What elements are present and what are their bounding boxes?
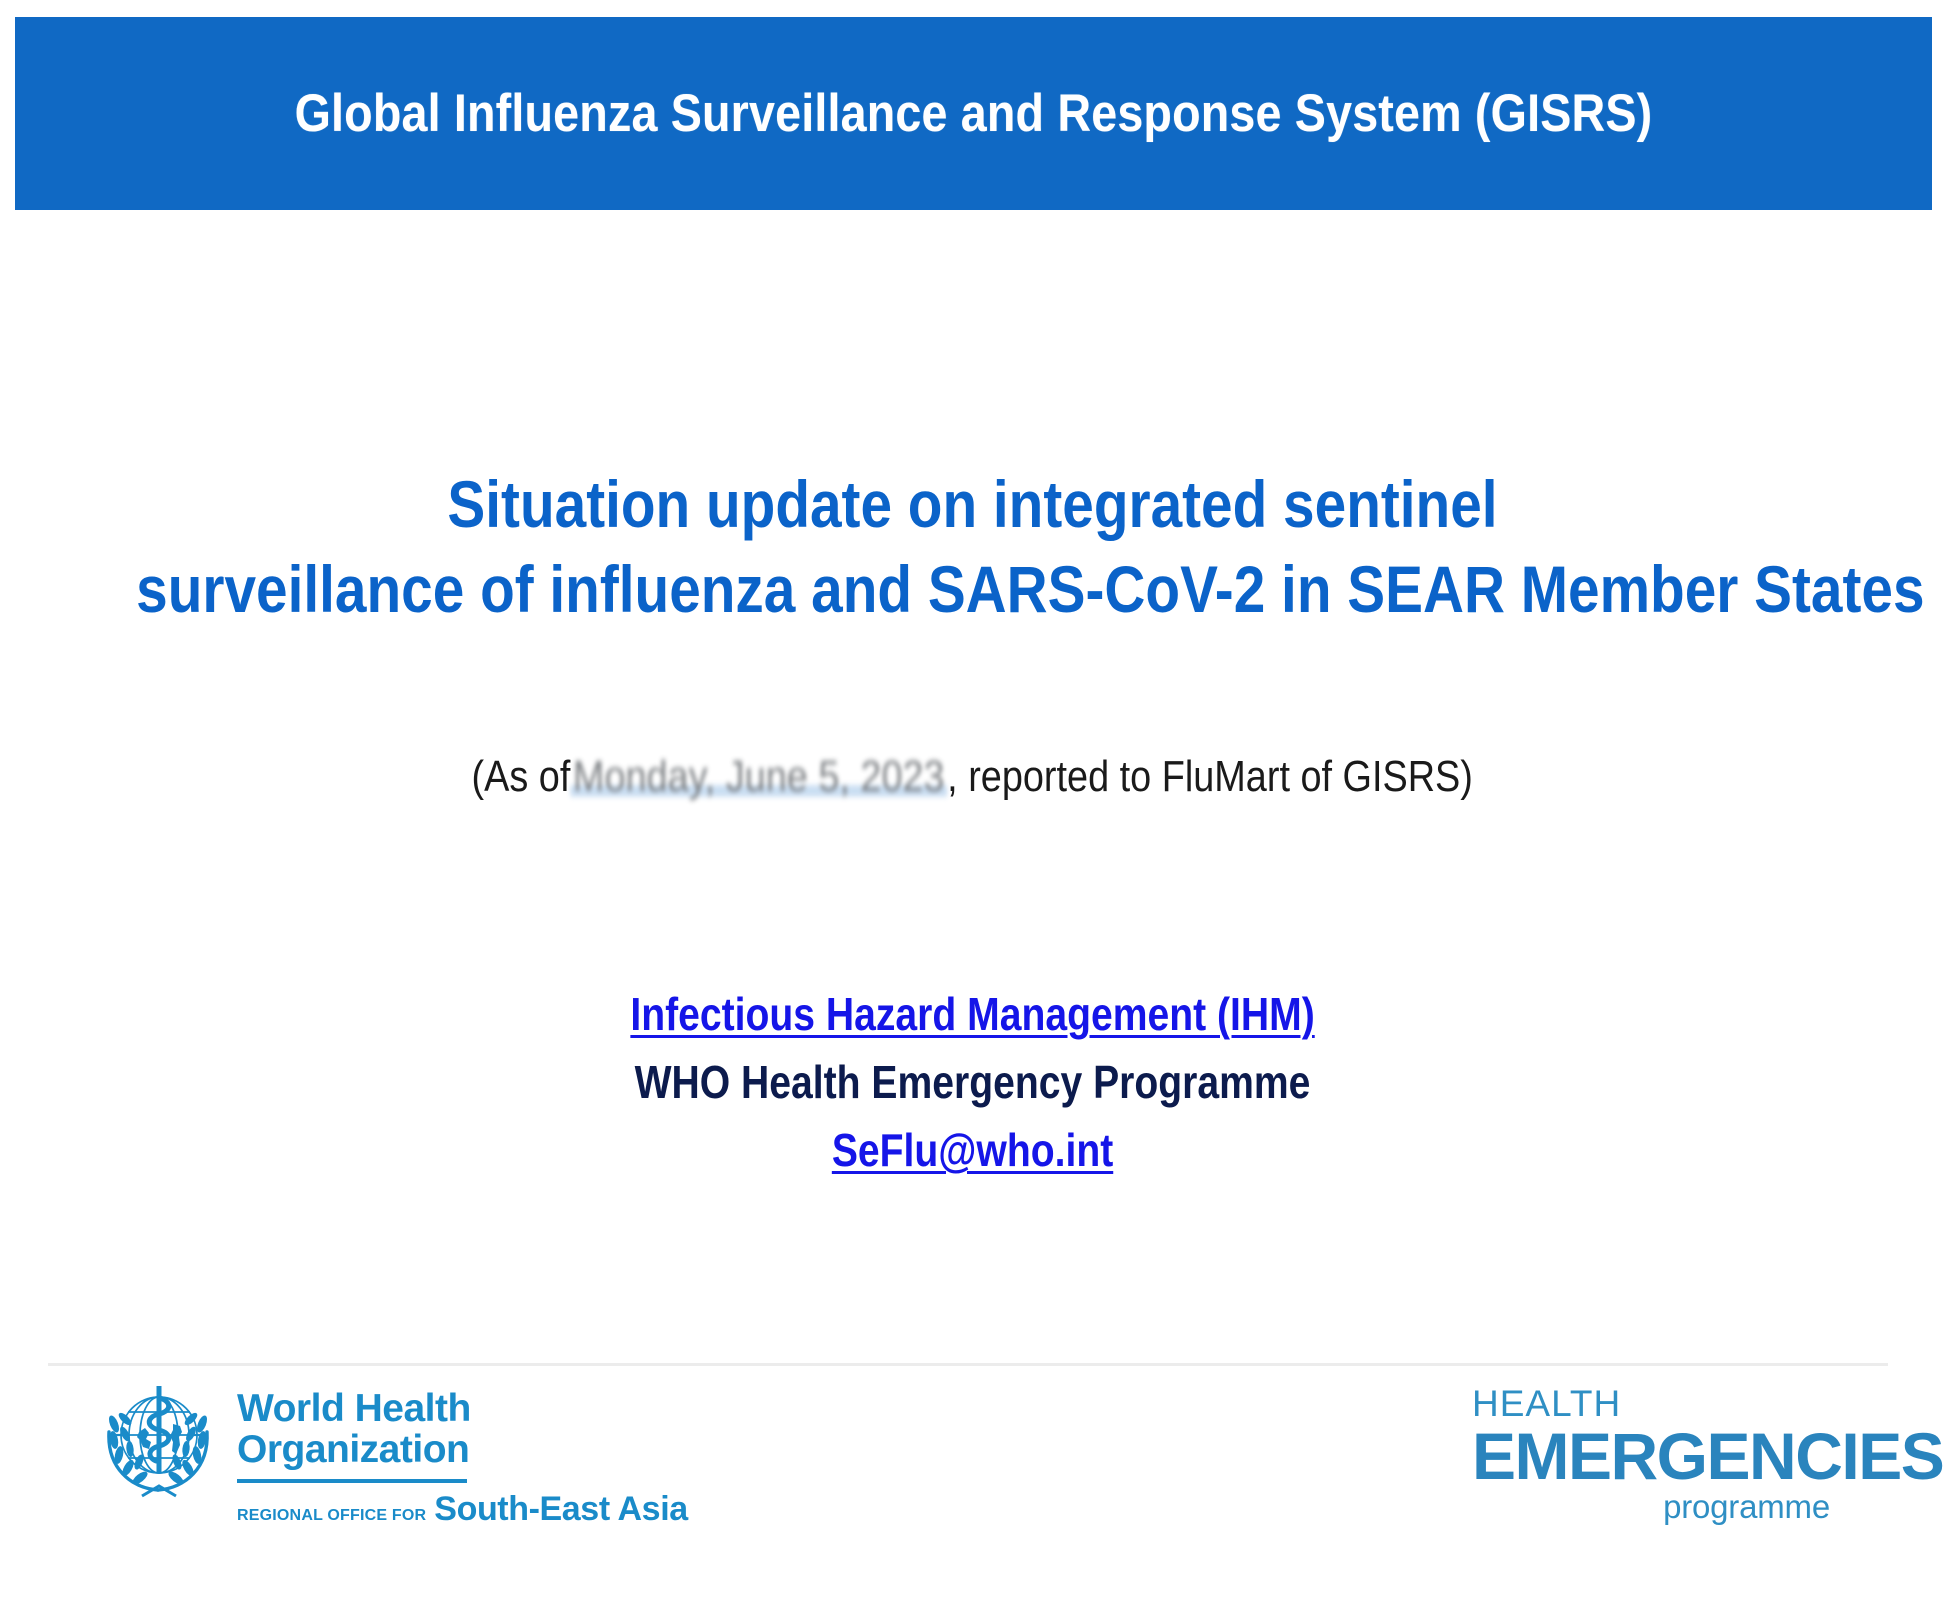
who-logo: World Health Organization REGIONAL OFFIC…	[95, 1372, 688, 1529]
ihm-link-label: Infectious Hazard Management (IHM)	[630, 980, 1314, 1048]
programme-label-text: WHO Health Emergency Programme	[635, 1048, 1311, 1116]
as-of-inner: (As ofMonday, June 5, 2023, reported to …	[472, 748, 1473, 806]
who-emblem-icon	[95, 1372, 223, 1508]
contact-block: Infectious Hazard Management (IHM) WHO H…	[0, 980, 1945, 1184]
as-of-prefix: (As of	[472, 752, 571, 801]
ihm-link[interactable]: Infectious Hazard Management (IHM)	[0, 980, 1945, 1048]
who-region-name: South-East Asia	[434, 1490, 687, 1529]
programme-label: WHO Health Emergency Programme	[0, 1048, 1945, 1116]
footer-divider	[48, 1363, 1888, 1366]
who-regional-office-label: REGIONAL OFFICE FOR	[237, 1507, 426, 1525]
who-logo-rule	[237, 1479, 467, 1483]
as-of-suffix: , reported to FluMart of GISRS)	[947, 752, 1473, 801]
he-logo-line-health: HEALTH	[1472, 1384, 1842, 1423]
header-banner: Global Influenza Surveillance and Respon…	[15, 17, 1932, 210]
who-region-row: REGIONAL OFFICE FOR South-East Asia	[237, 1490, 688, 1529]
who-wordmark: World Health Organization REGIONAL OFFIC…	[237, 1372, 688, 1529]
who-word-line-2: Organization	[237, 1429, 688, 1470]
as-of-subtitle: (As ofMonday, June 5, 2023, reported to …	[0, 748, 1945, 806]
header-banner-title: Global Influenza Surveillance and Respon…	[295, 83, 1653, 144]
email-link-label: SeFlu@who.int	[832, 1116, 1113, 1184]
who-word-line-1: World Health	[237, 1388, 688, 1429]
email-link[interactable]: SeFlu@who.int	[0, 1116, 1945, 1184]
he-logo-line-programme: programme	[1472, 1489, 1830, 1525]
health-emergencies-logo: HEALTH EMERGENCIES programme	[1472, 1384, 1842, 1525]
slide-title-line-1: Situation update on integrated sentinel	[136, 462, 1809, 547]
as-of-date-redacted: Monday, June 5, 2023	[571, 748, 948, 806]
slide-title-block: Situation update on integrated sentinel …	[0, 462, 1945, 632]
slide-title-line-2: surveillance of influenza and SARS-CoV-2…	[136, 547, 1809, 632]
he-logo-line-emergencies: EMERGENCIES	[1472, 1423, 1842, 1489]
